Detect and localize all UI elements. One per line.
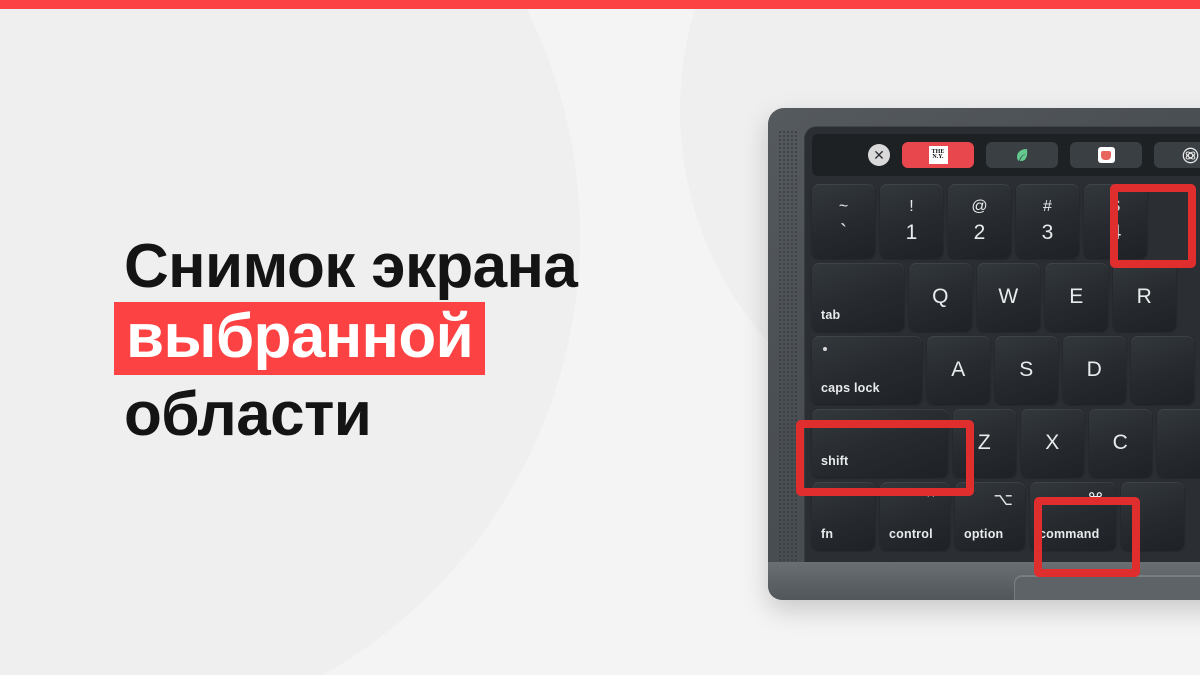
- key-3[interactable]: # 3: [1016, 184, 1079, 258]
- cup-icon: [1096, 145, 1116, 165]
- key-c[interactable]: C: [1089, 409, 1152, 477]
- key-rows: ~ ` ! 1 @ 2 # 3 $ 4 tab: [812, 184, 1200, 555]
- key-label: tab: [821, 308, 840, 322]
- key-d[interactable]: D: [1063, 336, 1126, 404]
- key-shift[interactable]: shift: [812, 409, 948, 477]
- key-lower-label: 3: [1042, 221, 1054, 245]
- leaf-icon: [1012, 145, 1032, 165]
- touchbar-item-atom[interactable]: [1154, 142, 1200, 168]
- headline-line-1: Снимок экрана: [124, 236, 577, 298]
- touchbar-item-leaf[interactable]: [986, 142, 1058, 168]
- headline-line-2-highlight: выбранной: [114, 302, 485, 375]
- key-label: fn: [821, 527, 833, 541]
- trackpad-edge: [1014, 575, 1200, 600]
- key-label: Z: [953, 409, 1016, 477]
- touchbar-item-nyt[interactable]: THEN.Y.: [902, 142, 974, 168]
- key-s[interactable]: S: [995, 336, 1058, 404]
- key-row-home: caps lock A S D: [812, 336, 1200, 404]
- control-symbol-icon: ⌃: [924, 490, 938, 510]
- key-command[interactable]: ⌘ command: [1030, 482, 1116, 550]
- key-1[interactable]: ! 1: [880, 184, 943, 258]
- key-label: [1121, 482, 1184, 550]
- atom-icon: [1180, 145, 1200, 165]
- screenshot-canvas: Снимок экрана выбранной области ✕ THEN.Y…: [0, 0, 1200, 675]
- key-upper-label: !: [909, 198, 913, 216]
- key-label: caps lock: [821, 381, 880, 395]
- key-lower-label: 2: [974, 221, 986, 245]
- key-upper-label: @: [971, 198, 987, 216]
- key-label: option: [964, 527, 1003, 541]
- key-label: D: [1063, 336, 1126, 404]
- touch-bar[interactable]: ✕ THEN.Y.: [812, 134, 1200, 176]
- key-fn[interactable]: fn: [812, 482, 875, 550]
- key-upper-label: $: [1111, 198, 1120, 216]
- nyt-app-icon: THEN.Y.: [928, 145, 948, 165]
- key-space[interactable]: [1121, 482, 1184, 550]
- headline-line-3: области: [124, 384, 577, 446]
- key-upper-label: #: [1043, 198, 1052, 216]
- macbook-keyboard: ✕ THEN.Y.: [768, 108, 1200, 600]
- key-label: Q: [909, 263, 972, 331]
- key-label: A: [927, 336, 990, 404]
- key-row-number: ~ ` ! 1 @ 2 # 3 $ 4: [812, 184, 1200, 258]
- key-label: command: [1039, 527, 1099, 541]
- palm-rest: [768, 562, 1200, 600]
- close-icon[interactable]: ✕: [868, 144, 890, 166]
- key-a[interactable]: A: [927, 336, 990, 404]
- key-r[interactable]: R: [1113, 263, 1176, 331]
- key-caps-lock[interactable]: caps lock: [812, 336, 922, 404]
- key-v[interactable]: [1157, 409, 1200, 477]
- key-tilde[interactable]: ~ `: [812, 184, 875, 258]
- key-q[interactable]: Q: [909, 263, 972, 331]
- key-label: E: [1045, 263, 1108, 331]
- key-label: S: [995, 336, 1058, 404]
- top-accent-bar: [0, 0, 1200, 9]
- key-row-tab: tab Q W E R: [812, 263, 1200, 331]
- key-tab[interactable]: tab: [812, 263, 904, 331]
- headline-block: Снимок экрана выбранной области: [124, 236, 577, 450]
- command-symbol-icon: ⌘: [1087, 490, 1104, 510]
- touchbar-item-cup[interactable]: [1070, 142, 1142, 168]
- key-e[interactable]: E: [1045, 263, 1108, 331]
- key-f[interactable]: [1131, 336, 1194, 404]
- key-label: C: [1089, 409, 1152, 477]
- key-lower-label: 4: [1110, 221, 1122, 245]
- key-label: X: [1021, 409, 1084, 477]
- key-2[interactable]: @ 2: [948, 184, 1011, 258]
- key-z[interactable]: Z: [953, 409, 1016, 477]
- key-label: shift: [821, 454, 848, 468]
- key-option[interactable]: ⌥ option: [955, 482, 1025, 550]
- key-label: [1131, 336, 1194, 404]
- key-row-shift: shift Z X C: [812, 409, 1200, 477]
- key-label: W: [977, 263, 1040, 331]
- key-4[interactable]: $ 4: [1084, 184, 1147, 258]
- key-x[interactable]: X: [1021, 409, 1084, 477]
- option-symbol-icon: ⌥: [993, 490, 1013, 510]
- key-w[interactable]: W: [977, 263, 1040, 331]
- key-label: [1157, 409, 1200, 477]
- key-row-modifier: fn ⌃ control ⌥ option ⌘ command: [812, 482, 1200, 550]
- key-label: R: [1113, 263, 1176, 331]
- key-upper-label: ~: [839, 198, 848, 216]
- caps-lock-led-icon: [823, 347, 827, 351]
- key-lower-label: 1: [906, 221, 918, 245]
- speaker-grille: [778, 130, 798, 582]
- key-lower-label: `: [840, 221, 847, 245]
- key-control[interactable]: ⌃ control: [880, 482, 950, 550]
- key-label: control: [889, 527, 933, 541]
